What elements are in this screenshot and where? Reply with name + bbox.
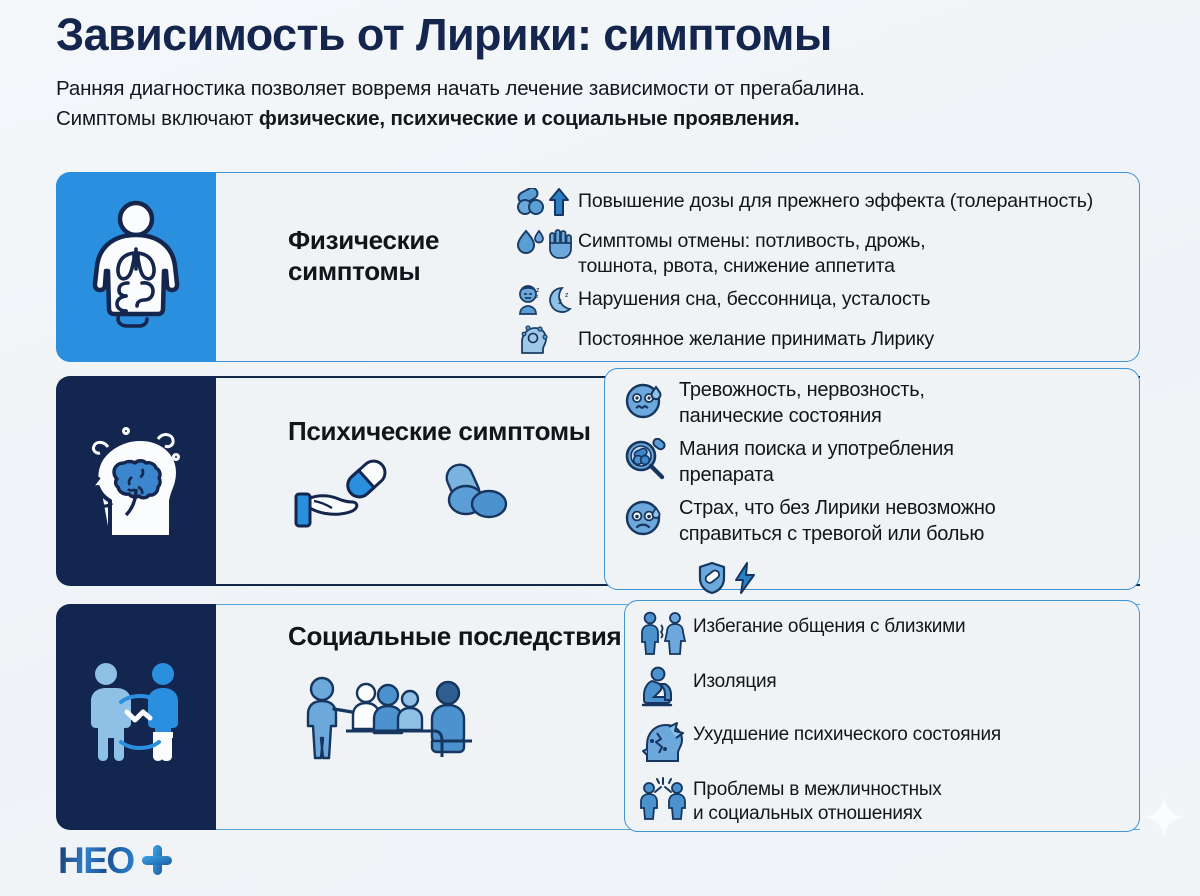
bullet-icons (516, 323, 578, 360)
bullet-text: Ухудшение психического состояния (693, 717, 1001, 747)
bullet-item: Постоянное желание принимать Лирику (516, 323, 1129, 360)
head-brain-icon (80, 417, 192, 546)
bullet-item: Страх, что без Лирики невозможно справит… (623, 493, 1131, 547)
bullet-icons (639, 664, 693, 713)
card-social-bullet-panel: Избегание общения с близкими (624, 600, 1140, 832)
card-physical-title-line1: Физические (288, 225, 498, 256)
svg-text:z: z (558, 297, 562, 306)
lightning-bolt-icon (733, 561, 757, 600)
bullet-item: Тревожность, нервозность, панические сос… (623, 375, 1131, 429)
sweat-drops-icon (516, 227, 544, 264)
svg-text:z: z (536, 294, 539, 300)
logo-plus-icon (140, 843, 174, 882)
bullet-icons (639, 609, 693, 660)
logo-text: НЕО (58, 840, 134, 882)
card-mental-title: Психические симптомы (288, 416, 591, 447)
magnifier-pills-icon (623, 469, 667, 486)
bullet-text: Нарушения сна, бессонница, усталость (578, 283, 930, 312)
bullet-text: Проблемы в межличностных и социальных от… (693, 772, 941, 827)
card-social-title: Социальные последствия (288, 621, 621, 652)
moon-zzz-icon: z z (546, 285, 576, 320)
card-physical-body: Физические симптомы (216, 172, 1140, 362)
hand-with-capsule-icon (294, 517, 404, 534)
person-avoiding-person-icon (639, 642, 687, 659)
infographic-page: Зависимость от Лирики: симптомы Ранняя д… (0, 0, 1200, 896)
worried-face-icon (623, 526, 665, 543)
group-of-people-icon (298, 667, 538, 772)
svg-text:z: z (536, 287, 540, 294)
bullet-icons (516, 225, 578, 264)
sleeping-face-icon: z z (516, 285, 544, 320)
two-people-handshake-icon (81, 660, 191, 775)
card-physical-title-line2: симптомы (288, 256, 498, 287)
card-social-bullet-list: Избегание общения с близкими (639, 609, 1131, 831)
pills-cluster-icon (434, 462, 514, 529)
bullet-text: Тревожность, нервозность, панические сос… (679, 375, 925, 429)
subtitle-line-2: Симптомы включают физические, психически… (56, 104, 1160, 133)
bullet-item: Симптомы отмены: потливость, дрожь, тошн… (516, 225, 1129, 280)
cracked-head-icon (639, 750, 685, 767)
card-physical-symptoms: Физические симптомы (56, 172, 1140, 362)
bullet-text: Избегание общения с близкими (693, 609, 965, 639)
subtitle-line-1: Ранняя диагностика позволяет вовремя нач… (56, 74, 1160, 103)
shield-pill-icon (697, 561, 727, 600)
pills-icon (516, 188, 546, 221)
bullet-item: Проблемы в межличностных и социальных от… (639, 772, 1131, 827)
page-title: Зависимость от Лирики: симптомы (56, 10, 1160, 60)
page-subtitle: Ранняя диагностика позволяет вовремя нач… (56, 74, 1160, 132)
bullet-text: Повышение дозы для прежнего эффекта (тол… (578, 185, 1093, 214)
up-arrow-icon (548, 187, 570, 222)
card-physical-title: Физические симптомы (288, 225, 498, 287)
bullet-text: Постоянное желание принимать Лирику (578, 323, 934, 352)
bullet-text: Симптомы отмены: потливость, дрожь, тошн… (578, 225, 925, 280)
conflict-people-icon (639, 807, 687, 824)
bullet-item: Изоляция (639, 664, 1131, 713)
card-mental-bullet-panel: Тревожность, нервозность, панические сос… (604, 368, 1140, 590)
anxious-face-icon (623, 408, 665, 425)
trembling-hand-icon (546, 227, 574, 264)
card-physical-bullet-list: Повышение дозы для прежнего эффекта (тол… (516, 185, 1129, 363)
bullet-icons: z z z z (516, 283, 578, 320)
bullet-item: Ухудшение психического состояния (639, 717, 1131, 768)
card-social-icon-panel (56, 604, 216, 830)
subtitle-bold: физические, психические и социальные про… (259, 107, 800, 130)
card-mental-icon-panel (56, 376, 216, 586)
bullet-item: Повышение дозы для прежнего эффекта (тол… (516, 185, 1129, 222)
subtitle-normal: Симптомы включают (56, 107, 259, 130)
bullet-icons (623, 434, 679, 487)
bullet-item: Мания поиска и употребления препарата (623, 434, 1131, 488)
bullet-item: z z z z Нарушения сна, бессонн (516, 283, 1129, 320)
bullet-text: Изоляция (693, 664, 776, 694)
bullet-text: Мания поиска и употребления препарата (679, 434, 954, 488)
svg-text:z: z (565, 292, 569, 299)
bullet-icons (516, 185, 578, 222)
human-body-organs-icon (84, 199, 188, 336)
card-mental-bullet-list: Тревожность, нервозность, панические сос… (623, 375, 1131, 553)
card-mental-trailing-icons (697, 561, 757, 600)
bullet-icons (623, 375, 679, 426)
header: Зависимость от Лирики: симптомы Ранняя д… (56, 10, 1160, 133)
bullet-icons (639, 772, 693, 825)
bullet-icons (639, 717, 693, 768)
brand-logo: НЕО (58, 840, 174, 882)
bullet-text: Страх, что без Лирики невозможно справит… (679, 493, 996, 547)
sitting-alone-icon (639, 695, 683, 712)
card-mental-illustration (294, 458, 404, 535)
card-physical-icon-panel (56, 172, 216, 362)
bullet-item: Избегание общения с близкими (639, 609, 1131, 660)
sparkle-decoration (1142, 795, 1186, 844)
bullet-icons (623, 493, 679, 544)
craving-head-icon (516, 325, 548, 360)
